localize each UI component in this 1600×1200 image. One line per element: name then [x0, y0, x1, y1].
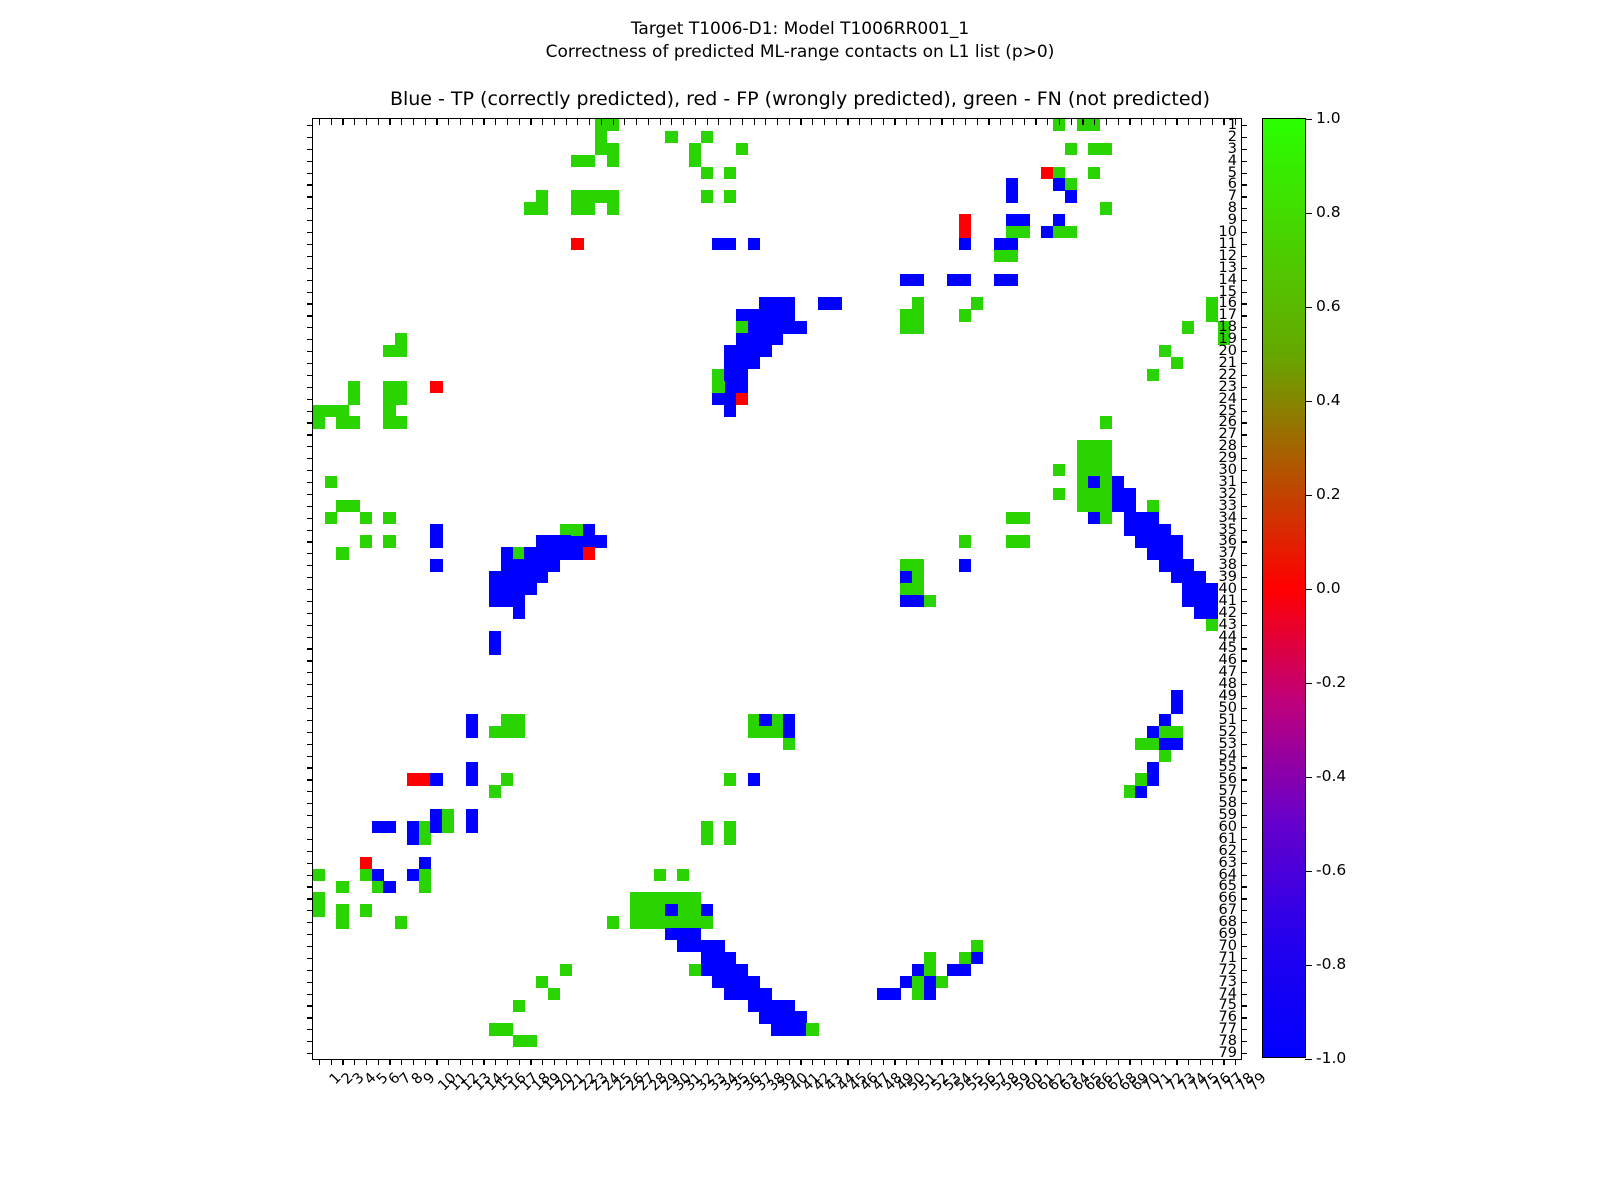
x-tick: [354, 1059, 355, 1065]
x-tick-top: [519, 119, 520, 125]
contact-cell: [642, 892, 654, 904]
contact-cell: [736, 143, 748, 155]
contact-cell: [383, 512, 395, 524]
x-tick-top: [1071, 119, 1072, 125]
y-tick-right: [1241, 506, 1247, 507]
contact-cell: [536, 547, 548, 559]
contact-cell: [1171, 690, 1183, 702]
contact-cell: [771, 1011, 783, 1023]
y-tick-right: [1241, 934, 1247, 935]
y-tick-right: [1241, 220, 1247, 221]
x-tick: [1141, 1059, 1142, 1065]
x-tick-top: [1176, 119, 1177, 125]
contact-cell: [1124, 512, 1136, 524]
y-tick-right: [1241, 613, 1247, 614]
contact-cell: [1053, 226, 1065, 238]
y-tick-right: [1241, 994, 1247, 995]
y-tick: [307, 839, 313, 840]
x-tick-top: [660, 119, 661, 125]
contact-cell: [900, 274, 912, 286]
contact-cell: [736, 357, 748, 369]
x-tick: [507, 1059, 508, 1065]
contact-cell: [607, 916, 619, 928]
y-tick-right: [1241, 803, 1247, 804]
contact-cell: [748, 773, 760, 785]
contact-cell: [889, 988, 901, 1000]
contact-cell: [407, 773, 419, 785]
x-tick: [894, 1059, 895, 1065]
x-tick-top: [671, 119, 672, 125]
y-tick-right: [1241, 446, 1247, 447]
x-tick: [1188, 1059, 1189, 1065]
y-tick-right: [1241, 660, 1247, 661]
contact-cell: [900, 321, 912, 333]
contact-cell: [759, 321, 771, 333]
contact-cell: [1171, 547, 1183, 559]
x-tick-top: [319, 119, 320, 125]
y-tick: [307, 375, 313, 376]
contact-cell: [313, 869, 325, 881]
contact-cell: [771, 714, 783, 726]
contact-cell: [595, 535, 607, 547]
y-tick: [307, 946, 313, 947]
y-tick: [307, 744, 313, 745]
y-tick-right: [1241, 851, 1247, 852]
y-tick-right: [1241, 256, 1247, 257]
contact-cell: [724, 821, 736, 833]
colorbar-tick: [1305, 307, 1312, 308]
contact-cell: [971, 952, 983, 964]
contact-cell: [1124, 500, 1136, 512]
x-tick: [378, 1059, 379, 1065]
contact-cell: [571, 190, 583, 202]
contact-cell: [1100, 440, 1112, 452]
x-tick: [530, 1059, 531, 1065]
x-tick-top: [1106, 119, 1107, 125]
contact-cell: [783, 1023, 795, 1035]
contact-cell: [959, 964, 971, 976]
y-tick: [307, 720, 313, 721]
colorbar-tick: [1305, 495, 1312, 496]
y-tick-right: [1241, 1041, 1247, 1042]
contact-cell: [795, 1023, 807, 1035]
contact-cell: [665, 892, 677, 904]
y-tick-right: [1241, 244, 1247, 245]
colorbar-tick: [1305, 401, 1312, 402]
contact-cell: [513, 714, 525, 726]
contact-cell: [548, 547, 560, 559]
x-tick: [495, 1059, 496, 1065]
contact-cell: [336, 547, 348, 559]
colorbar-gradient: [1263, 119, 1305, 1057]
x-tick: [566, 1059, 567, 1065]
y-tick-right: [1241, 767, 1247, 768]
contact-cell: [701, 833, 713, 845]
contact-cell: [336, 916, 348, 928]
colorbar-tick: [1305, 777, 1312, 778]
contact-cell: [419, 869, 431, 881]
x-tick: [1012, 1059, 1013, 1065]
contact-cell: [736, 393, 748, 405]
contact-cell: [583, 155, 595, 167]
contact-cell: [372, 869, 384, 881]
contact-cell: [630, 892, 642, 904]
y-tick: [307, 613, 313, 614]
contact-cell: [395, 393, 407, 405]
x-tick-top: [1188, 119, 1189, 125]
contact-cell: [689, 964, 701, 976]
contact-cell: [783, 726, 795, 738]
contact-cell: [677, 940, 689, 952]
contact-cell: [1100, 416, 1112, 428]
contact-cell: [1159, 345, 1171, 357]
y-tick-right: [1241, 922, 1247, 923]
contact-cell: [489, 595, 501, 607]
x-tick: [554, 1059, 555, 1065]
contact-cell: [607, 190, 619, 202]
contact-cell: [536, 976, 548, 988]
contact-cell: [1053, 167, 1065, 179]
contact-cell: [466, 762, 478, 774]
contact-cell: [548, 559, 560, 571]
x-tick: [1176, 1059, 1177, 1065]
y-tick-right: [1241, 161, 1247, 162]
contact-cell: [571, 238, 583, 250]
contact-cell: [759, 297, 771, 309]
colorbar-tick-label: -0.4: [1316, 767, 1346, 785]
contact-cell: [1159, 726, 1171, 738]
title-line-1: Target T1006-D1: Model T1006RR001_1: [0, 18, 1600, 41]
y-tick: [307, 1041, 313, 1042]
contact-cell: [419, 821, 431, 833]
contact-cell: [1006, 250, 1018, 262]
contact-cell: [701, 904, 713, 916]
colorbar-tick-label: 0.0: [1316, 579, 1341, 597]
contact-cell: [430, 809, 442, 821]
contact-cell: [1206, 583, 1218, 595]
contact-cell: [900, 309, 912, 321]
colorbar-tick: [1305, 1059, 1312, 1060]
x-tick: [789, 1059, 790, 1065]
contact-cell: [1182, 595, 1194, 607]
contact-cell: [595, 131, 607, 143]
contact-cell: [689, 916, 701, 928]
contact-cell: [501, 595, 513, 607]
contact-cell: [665, 928, 677, 940]
contact-cell: [724, 405, 736, 417]
contact-cell: [1135, 773, 1147, 785]
contact-cell: [1100, 488, 1112, 500]
contact-cell: [1006, 274, 1018, 286]
x-tick-top: [1012, 119, 1013, 125]
y-tick: [307, 994, 313, 995]
x-tick-top: [988, 119, 989, 125]
contact-cell: [430, 535, 442, 547]
y-tick: [307, 851, 313, 852]
contact-cell: [736, 345, 748, 357]
x-tick-top: [977, 119, 978, 125]
x-tick: [953, 1059, 954, 1065]
contact-cell: [806, 1023, 818, 1035]
x-tick: [836, 1059, 837, 1065]
contact-cell: [1088, 464, 1100, 476]
x-tick: [930, 1059, 931, 1065]
contact-cell: [1194, 607, 1206, 619]
y-tick: [307, 434, 313, 435]
contact-cell: [419, 881, 431, 893]
y-tick: [307, 256, 313, 257]
contact-cell: [1018, 214, 1030, 226]
y-tick: [307, 161, 313, 162]
x-tick: [812, 1059, 813, 1065]
x-tick-top: [448, 119, 449, 125]
x-tick-top: [1059, 119, 1060, 125]
contact-cell: [1182, 321, 1194, 333]
contact-cell: [430, 821, 442, 833]
contact-cell: [736, 976, 748, 988]
contact-cell: [759, 333, 771, 345]
contact-cell: [748, 1000, 760, 1012]
x-tick-top: [953, 119, 954, 125]
y-tick-right: [1241, 339, 1247, 340]
contact-cell: [947, 274, 959, 286]
y-tick: [307, 268, 313, 269]
contact-cell: [607, 155, 619, 167]
x-tick-top: [836, 119, 837, 125]
contact-cell: [513, 1035, 525, 1047]
contact-cell: [466, 726, 478, 738]
y-tick-right: [1241, 375, 1247, 376]
contact-cell: [419, 773, 431, 785]
x-tick: [1118, 1059, 1119, 1065]
x-tick: [695, 1059, 696, 1065]
x-tick: [472, 1059, 473, 1065]
contact-cell: [1065, 143, 1077, 155]
y-tick-right: [1241, 589, 1247, 590]
contact-cell: [924, 964, 936, 976]
contact-cell: [513, 607, 525, 619]
contact-cell: [360, 535, 372, 547]
contact-cell: [1088, 488, 1100, 500]
y-tick: [307, 553, 313, 554]
contact-cell: [959, 226, 971, 238]
y-tick: [307, 196, 313, 197]
contact-cell: [1006, 214, 1018, 226]
x-tick: [636, 1059, 637, 1065]
contact-cell: [748, 988, 760, 1000]
contact-cell: [1006, 226, 1018, 238]
x-tick: [1212, 1059, 1213, 1065]
y-tick-right: [1241, 530, 1247, 531]
y-tick: [307, 137, 313, 138]
y-tick-right: [1241, 1017, 1247, 1018]
colorbar-tick-label: -0.2: [1316, 673, 1346, 691]
x-tick: [1106, 1059, 1107, 1065]
x-tick: [800, 1059, 801, 1065]
contact-cell: [1077, 488, 1089, 500]
contact-cell: [1006, 535, 1018, 547]
contact-cell: [724, 976, 736, 988]
contact-cell: [1147, 726, 1159, 738]
x-tick: [389, 1059, 390, 1065]
y-tick: [307, 1029, 313, 1030]
x-tick-top: [530, 119, 531, 125]
contact-cell: [571, 202, 583, 214]
contact-cell: [936, 976, 948, 988]
x-tick-top: [894, 119, 895, 125]
y-tick: [307, 732, 313, 733]
y-tick: [307, 767, 313, 768]
contact-cell: [771, 309, 783, 321]
contact-cell: [654, 916, 666, 928]
contact-cell: [407, 821, 419, 833]
contact-cell: [501, 1023, 513, 1035]
colorbar-tick: [1305, 871, 1312, 872]
y-tick: [307, 208, 313, 209]
x-tick: [436, 1059, 437, 1065]
x-tick-top: [906, 119, 907, 125]
contact-cell: [536, 535, 548, 547]
y-tick-right: [1241, 756, 1247, 757]
contact-cell: [736, 381, 748, 393]
x-tick-top: [589, 119, 590, 125]
contact-cell: [924, 952, 936, 964]
y-tick: [307, 922, 313, 923]
y-tick: [307, 220, 313, 221]
y-tick: [307, 292, 313, 293]
y-tick: [307, 910, 313, 911]
contact-cell: [372, 881, 384, 893]
y-tick: [307, 303, 313, 304]
contact-cell: [383, 881, 395, 893]
y-tick: [307, 898, 313, 899]
x-tick-top: [577, 119, 578, 125]
contact-cell: [1159, 524, 1171, 536]
contact-cell: [1159, 535, 1171, 547]
legend-subtitle: Blue - TP (correctly predicted), red - F…: [0, 88, 1600, 110]
x-tick-top: [495, 119, 496, 125]
x-tick: [742, 1059, 743, 1065]
contact-cell: [1206, 595, 1218, 607]
contact-cell: [524, 547, 536, 559]
y-tick-right: [1241, 720, 1247, 721]
contact-cell: [712, 238, 724, 250]
contact-cell: [900, 583, 912, 595]
contact-cell: [736, 988, 748, 1000]
x-tick-top: [1000, 119, 1001, 125]
contact-cell: [548, 988, 560, 1000]
contact-cell: [783, 1000, 795, 1012]
y-tick-right: [1241, 292, 1247, 293]
x-tick: [707, 1059, 708, 1065]
figure-title: Target T1006-D1: Model T1006RR001_1 Corr…: [0, 18, 1600, 64]
contact-cell: [912, 583, 924, 595]
contact-cell: [783, 1011, 795, 1023]
contact-cell: [383, 405, 395, 417]
contact-cell: [513, 595, 525, 607]
x-tick-top: [812, 119, 813, 125]
x-tick: [613, 1059, 614, 1065]
y-tick: [307, 482, 313, 483]
contact-cell: [419, 833, 431, 845]
title-line-2: Correctness of predicted ML-range contac…: [0, 41, 1600, 64]
y-tick: [307, 244, 313, 245]
contact-cell: [1065, 178, 1077, 190]
y-tick-right: [1241, 1053, 1247, 1054]
x-tick: [519, 1059, 520, 1065]
contact-cell: [724, 952, 736, 964]
y-tick: [307, 530, 313, 531]
x-tick: [730, 1059, 731, 1065]
contact-cell: [1159, 714, 1171, 726]
contact-cell: [442, 821, 454, 833]
y-tick: [307, 756, 313, 757]
contact-cell: [489, 726, 501, 738]
y-tick-right: [1241, 494, 1247, 495]
contact-cell: [654, 869, 666, 881]
contact-cell: [395, 416, 407, 428]
y-tick-right: [1241, 553, 1247, 554]
contact-cell: [501, 714, 513, 726]
contact-cell: [1006, 190, 1018, 202]
contact-cell: [912, 297, 924, 309]
contact-cell: [1159, 547, 1171, 559]
x-tick: [1035, 1059, 1036, 1065]
contact-cell: [513, 583, 525, 595]
contact-cell: [724, 964, 736, 976]
contact-cell: [759, 714, 771, 726]
contact-cell: [912, 309, 924, 321]
contact-cell: [724, 190, 736, 202]
contact-cell: [336, 500, 348, 512]
contact-cell: [560, 524, 572, 536]
y-tick-right: [1241, 387, 1247, 388]
contact-cell: [1206, 619, 1218, 631]
y-tick: [307, 541, 313, 542]
x-tick: [1129, 1059, 1130, 1065]
contact-cell: [759, 726, 771, 738]
x-tick: [624, 1059, 625, 1065]
x-tick-top: [883, 119, 884, 125]
contact-cell: [466, 821, 478, 833]
contact-cell: [724, 988, 736, 1000]
x-tick-top: [401, 119, 402, 125]
x-tick: [366, 1059, 367, 1065]
contact-cell: [583, 524, 595, 536]
contact-cell: [395, 381, 407, 393]
contact-cell: [959, 309, 971, 321]
contact-cell: [501, 583, 513, 595]
y-tick-right: [1241, 196, 1247, 197]
x-tick-top: [1118, 119, 1119, 125]
contact-cell: [724, 833, 736, 845]
contact-cell: [430, 773, 442, 785]
y-tick: [307, 494, 313, 495]
contact-cell: [501, 571, 513, 583]
contact-cell: [947, 964, 959, 976]
contact-cell: [712, 976, 724, 988]
x-tick: [601, 1059, 602, 1065]
y-tick: [307, 958, 313, 959]
contact-cell: [736, 964, 748, 976]
contact-cell: [724, 167, 736, 179]
y-tick: [307, 589, 313, 590]
y-tick: [307, 506, 313, 507]
contact-cell: [630, 916, 642, 928]
contact-cell: [1018, 226, 1030, 238]
contact-cell: [748, 321, 760, 333]
contact-cell: [1147, 512, 1159, 524]
